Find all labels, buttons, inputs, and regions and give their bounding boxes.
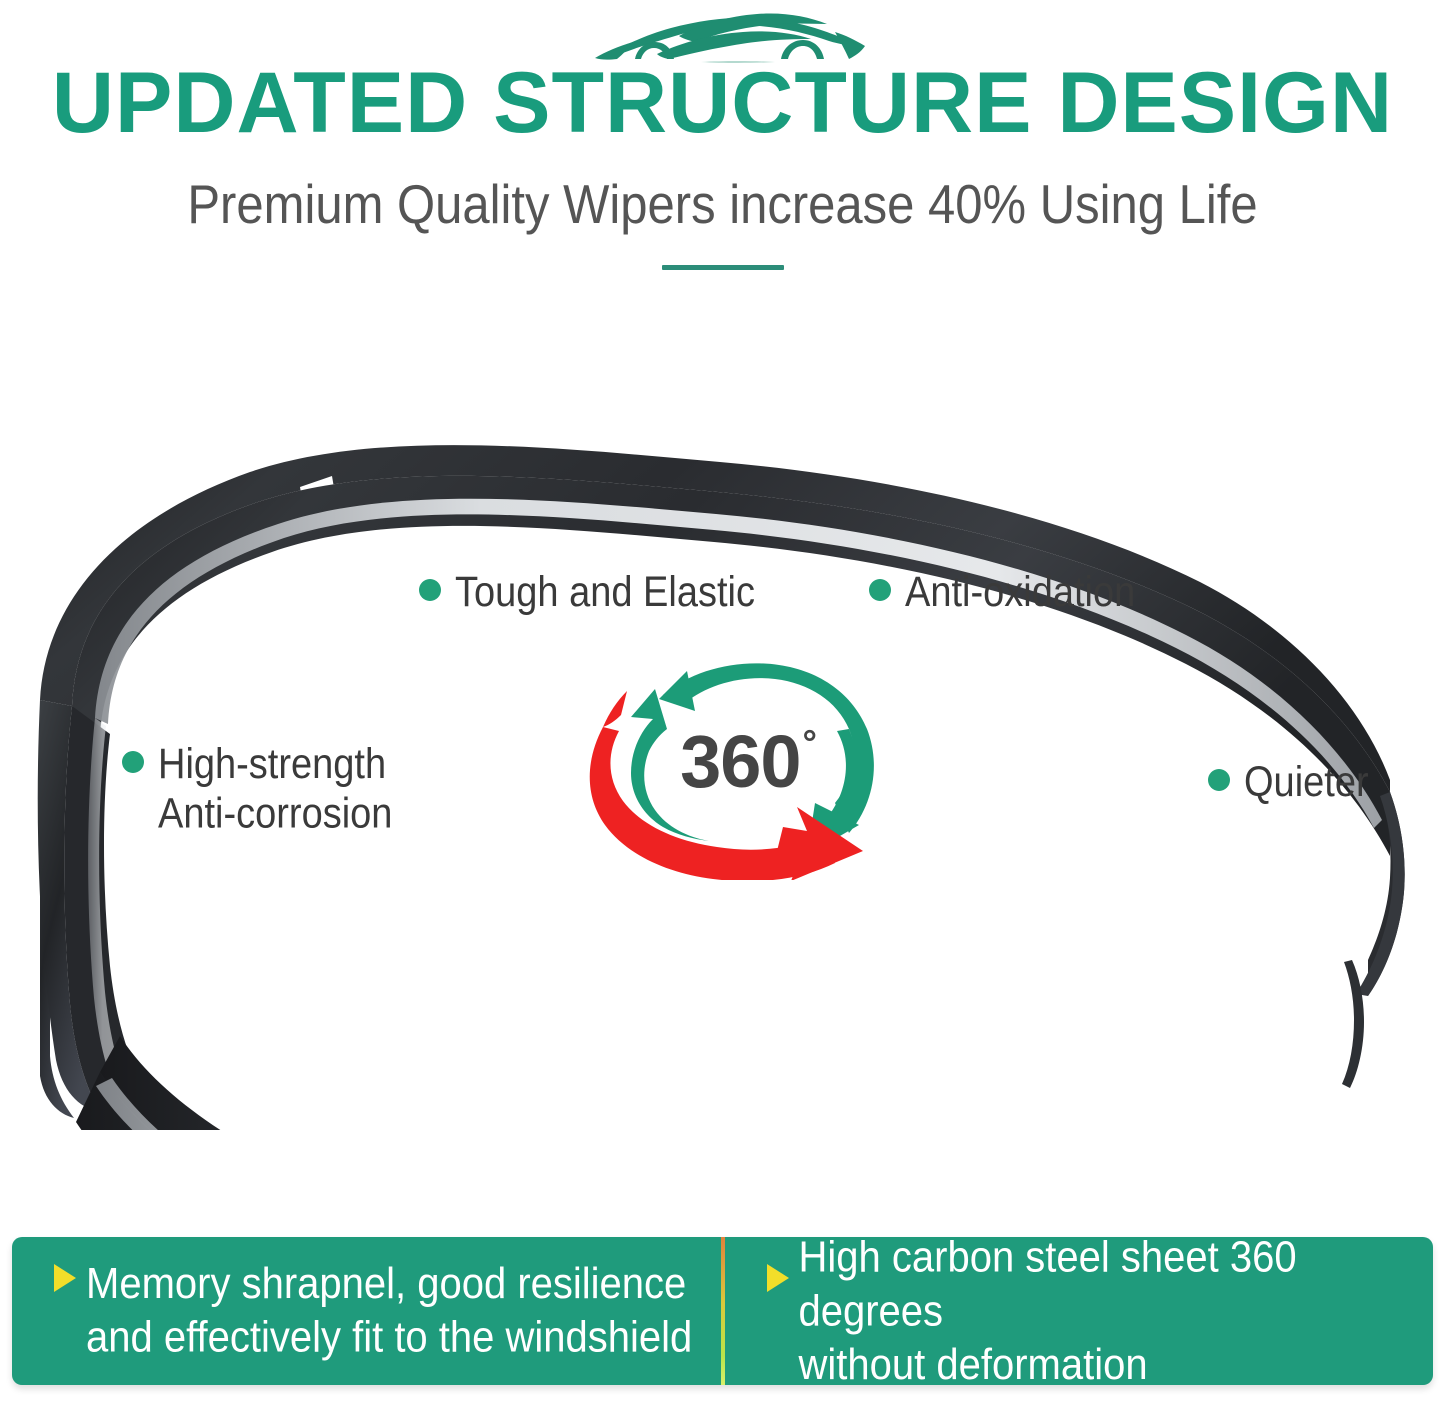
triangle-right-icon — [767, 1264, 789, 1292]
bullet-dot-icon — [419, 579, 441, 601]
page-title: UPDATED STRUCTURE DESIGN — [0, 60, 1445, 146]
banner-text-line1: High carbon steel sheet 360 degrees — [799, 1237, 1434, 1338]
banner-text-line1: Memory shrapnel, good resilience — [86, 1257, 692, 1311]
banner-high-carbon-steel: High carbon steel sheet 360 degrees with… — [725, 1237, 1434, 1385]
infographic-page: UPDATED STRUCTURE DESIGN Premium Quality… — [0, 0, 1445, 1421]
feature-label-high-strength-anti-corrosion: High-strength Anti-corrosion — [122, 740, 392, 829]
triangle-right-icon — [54, 1264, 76, 1292]
feature-label-anti-oxidation: Anti-oxidation — [869, 568, 1135, 612]
feature-text: Quieter — [1244, 758, 1369, 808]
feature-text-line2: Anti-corrosion — [158, 790, 392, 840]
feature-label-quieter: Quieter — [1208, 758, 1369, 802]
feature-text: Tough and Elastic — [455, 568, 755, 618]
bullet-dot-icon — [869, 579, 891, 601]
page-subtitle: Premium Quality Wipers increase 40% Usin… — [0, 178, 1445, 233]
title-underline-divider — [662, 265, 784, 270]
rotation-360-arrows-icon: 360° — [563, 655, 923, 880]
bottom-feature-banner-row: Memory shrapnel, good resilience and eff… — [12, 1237, 1433, 1385]
feature-label-tough-and-elastic: Tough and Elastic — [419, 568, 755, 612]
feature-text-line1: High-strength — [158, 740, 392, 790]
feature-text: Anti-oxidation — [905, 568, 1135, 618]
banner-text-line2: and effectively fit to the windshield — [86, 1311, 692, 1365]
bullet-dot-icon — [122, 751, 144, 773]
banner-text-line2: without deformation — [799, 1338, 1434, 1385]
bullet-dot-icon — [1208, 769, 1230, 791]
banner-memory-shrapnel: Memory shrapnel, good resilience and eff… — [12, 1237, 721, 1385]
